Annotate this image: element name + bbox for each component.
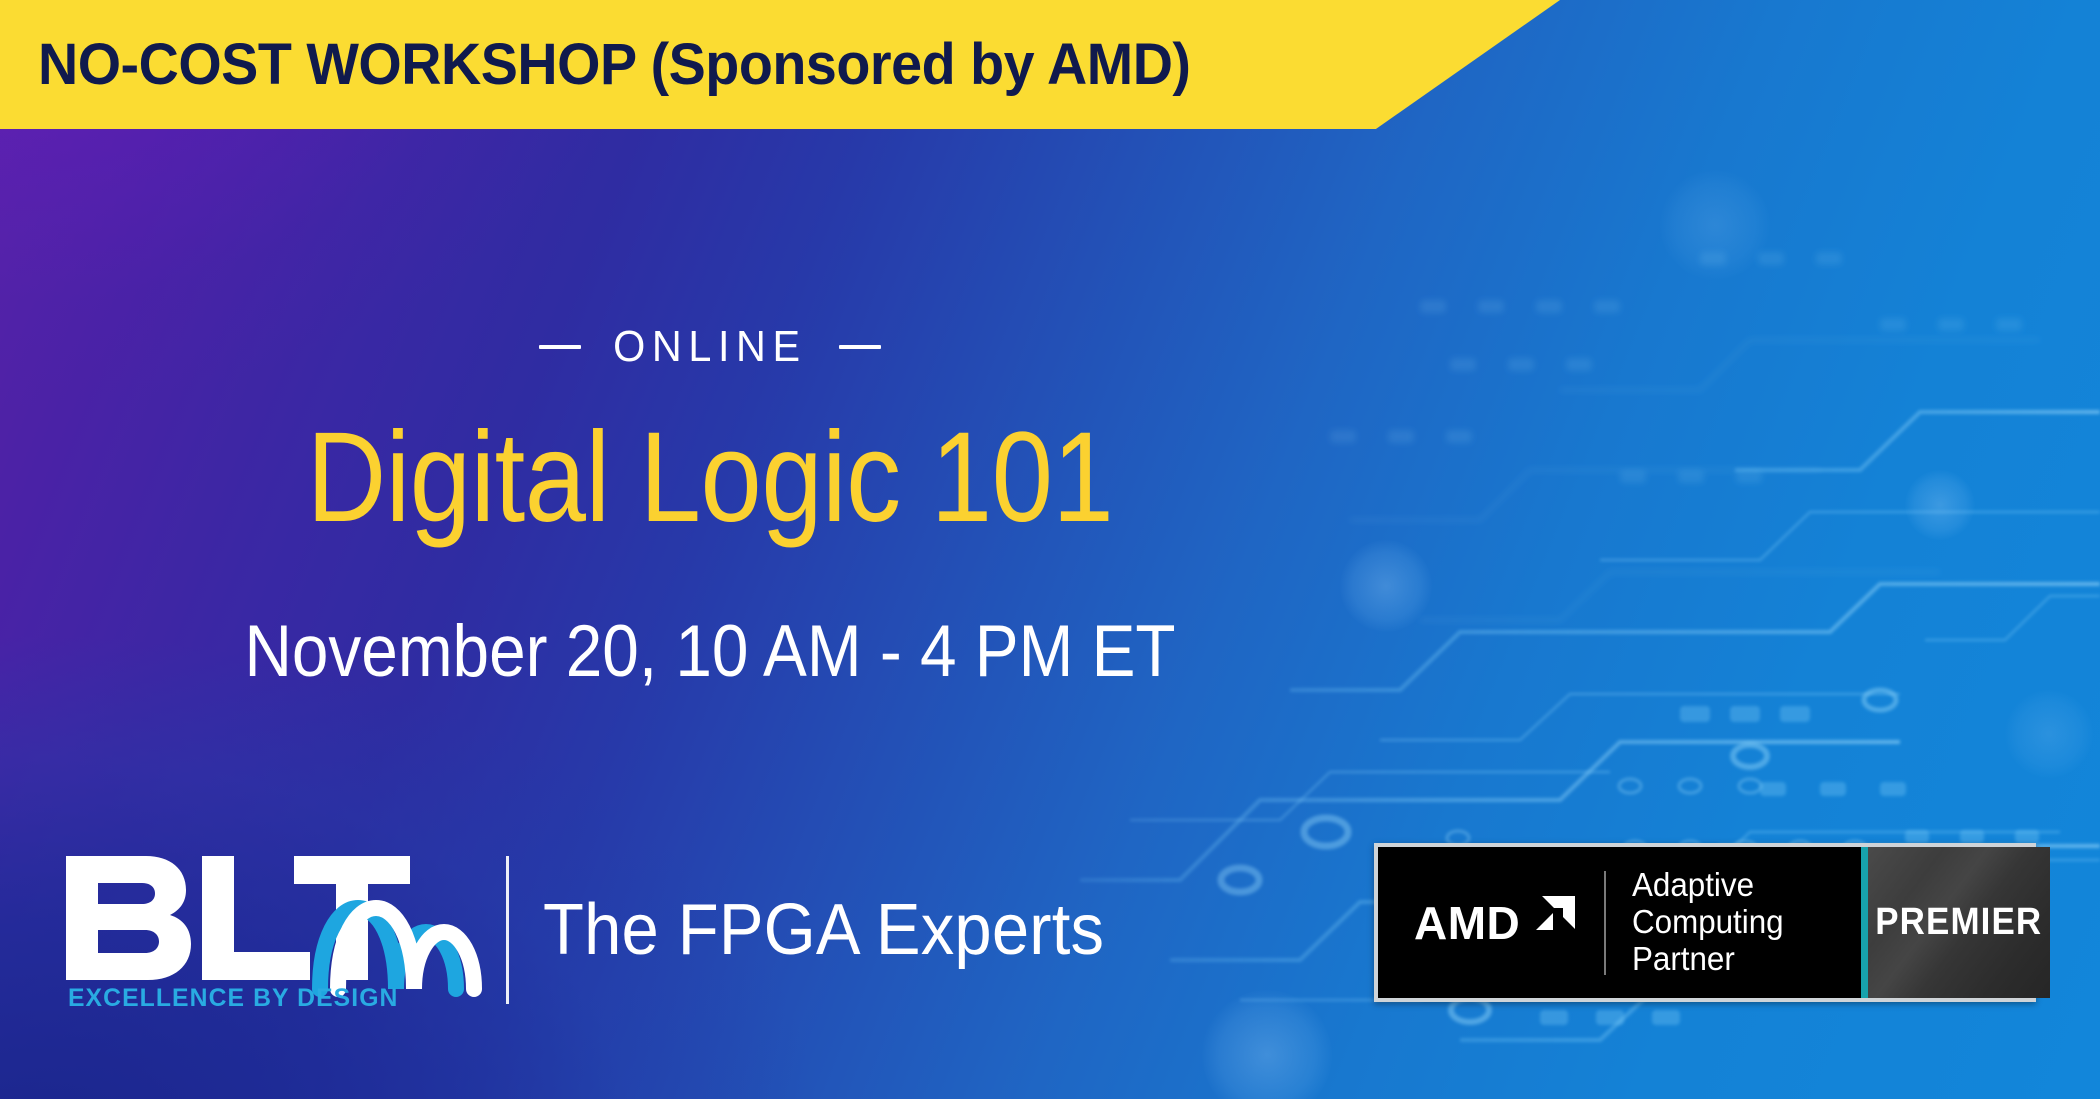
dash-right-icon bbox=[839, 345, 881, 349]
ribbon-label: NO-COST WORKSHOP (Sponsored by AMD) bbox=[38, 31, 1190, 98]
brand-tagline: The FPGA Experts bbox=[543, 889, 1104, 971]
amd-partner-line-3: Partner bbox=[1632, 941, 1784, 978]
amd-partner-text: Adaptive Computing Partner bbox=[1632, 867, 1784, 978]
amd-partner-line-1: Adaptive bbox=[1632, 867, 1784, 904]
blt-logo-tagline: EXCELLENCE BY DESIGN bbox=[68, 984, 399, 1012]
amd-partner-line-2: Computing bbox=[1632, 904, 1784, 941]
online-label: ONLINE bbox=[613, 322, 806, 372]
online-eyebrow: ONLINE bbox=[0, 322, 1420, 372]
amd-partner-badge: AMD Adaptive Computing Partner PREM bbox=[1374, 843, 2036, 1002]
amd-wordmark: AMD bbox=[1414, 900, 1520, 946]
partner-tier-panel: PREMIER bbox=[1868, 847, 2050, 998]
lockup-divider bbox=[506, 856, 509, 1004]
brand-lockup: EXCELLENCE BY DESIGN The FPGA Experts bbox=[62, 846, 1146, 1014]
partner-tier-label: PREMIER bbox=[1875, 901, 2042, 944]
event-title: Digital Logic 101 bbox=[99, 410, 1320, 546]
workshop-ribbon: NO-COST WORKSHOP (Sponsored by AMD) bbox=[0, 0, 1560, 129]
amd-logo: AMD bbox=[1414, 896, 1575, 949]
amd-partner-panel: AMD Adaptive Computing Partner bbox=[1378, 847, 1861, 998]
amd-arrow-icon bbox=[1527, 896, 1575, 949]
event-datetime: November 20, 10 AM - 4 PM ET bbox=[71, 610, 1349, 693]
blt-logo: EXCELLENCE BY DESIGN bbox=[62, 846, 492, 1014]
promo-banner: NO-COST WORKSHOP (Sponsored by AMD) ONLI… bbox=[0, 0, 2100, 1099]
badge-accent-bar bbox=[1861, 847, 1868, 998]
dash-left-icon bbox=[539, 345, 581, 349]
amd-logo-separator bbox=[1604, 871, 1606, 975]
